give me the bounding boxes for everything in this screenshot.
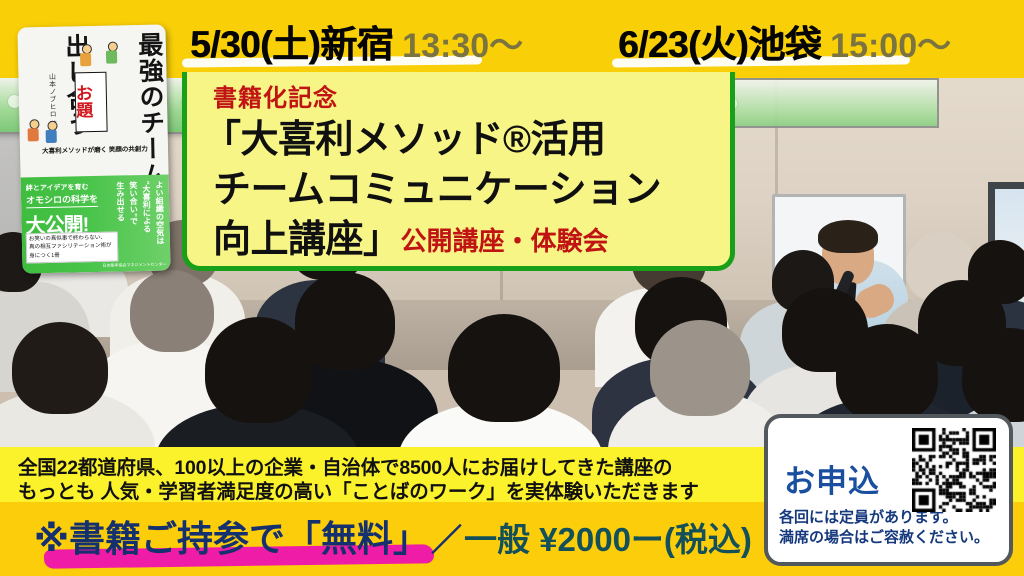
audience-head — [205, 317, 313, 423]
session-2-date-place: 6/23(火)池袋 — [618, 14, 821, 68]
course-title-line-1: 「大喜利メソッド®活用 — [203, 108, 606, 163]
price-free-condition: ※書籍ご持参で「無料」 — [34, 518, 429, 559]
book-odai-badge: お題 — [74, 72, 107, 133]
book-obi-note-3: 身につく1冊 — [29, 251, 115, 262]
book-odai-text: お題 — [76, 84, 107, 119]
book-publisher: 日本能率協会マネジメントセンター — [102, 262, 166, 269]
application-title: お申込 — [784, 456, 880, 501]
audience-head — [130, 270, 214, 352]
course-title-box: 書籍化記念 「大喜利メソッド®活用 チームコミュニケーション 向上講座」公開講座… — [182, 72, 735, 271]
book-obi-vertical-1: よい組織の空気は — [154, 181, 167, 253]
book-author: 山本ノブヒロ 著 — [46, 73, 57, 128]
session-2-time: 15:00〜 — [830, 18, 951, 67]
book-obi-line-2: オモシロの科学を — [26, 192, 98, 209]
session-1-time: 13:30〜 — [402, 18, 523, 67]
course-title-line-2: チームコミュニケーション — [213, 158, 661, 213]
audience-head — [12, 322, 108, 414]
price-separator: ／ — [431, 523, 462, 558]
qr-code[interactable] — [912, 428, 996, 512]
session-1: 5/30(土)新宿 13:30〜 — [190, 14, 523, 66]
application-box[interactable]: お申込 各回には定員があります。 満席の場合はご容赦ください。 — [764, 414, 1013, 566]
application-note: 各回には定員があります。 満席の場合はご容赦ください。 — [779, 508, 989, 549]
seminar-poster: 5/30(土)新宿 13:30〜 6/23(火)池袋 15:00〜 書籍化記念 … — [0, 0, 1024, 576]
session-1-date-place: 5/30(土)新宿 — [190, 14, 393, 68]
book-cover: 最強のチームは 出し合う 山本ノブヒロ 著 お題 大喜利メソッドが磨く 笑顔の共… — [17, 24, 170, 273]
price-general: 一般 ¥2000ー(税込) — [464, 521, 752, 558]
book-obi-vertical-2: "大喜利による — [141, 181, 154, 253]
book-obi-vertical-3: 笑い合い"で — [128, 181, 141, 253]
course-title-line-3: 向上講座」公開講座・体験会 — [213, 208, 609, 263]
book-obi-note: お笑いの真似事で終わらない、 真の相互ファシリテーション術が 身につく1冊 — [26, 231, 119, 263]
audience-head — [448, 314, 560, 422]
audience-head — [836, 324, 938, 422]
book-obi-band: 絆とアイデアを育む オモシロの科学を 大公開! よい組織の空気は "大喜利による… — [21, 174, 171, 273]
audience-head — [650, 320, 750, 416]
price-text: ※書籍ご持参で「無料」／一般 ¥2000ー(税込) — [34, 510, 752, 562]
course-title-line-3-main: 向上講座」 — [213, 219, 401, 261]
speaker-hair — [818, 220, 878, 253]
session-2: 6/23(火)池袋 15:00〜 — [618, 14, 951, 66]
course-description-line-2: もっとも 人気・学習者満足度の高い「ことばのワーク」を実体験いただきます — [18, 475, 699, 504]
course-title-subtitle: 公開講座・体験会 — [401, 226, 609, 256]
application-note-line-2: 満席の場合はご容赦ください。 — [779, 528, 989, 548]
